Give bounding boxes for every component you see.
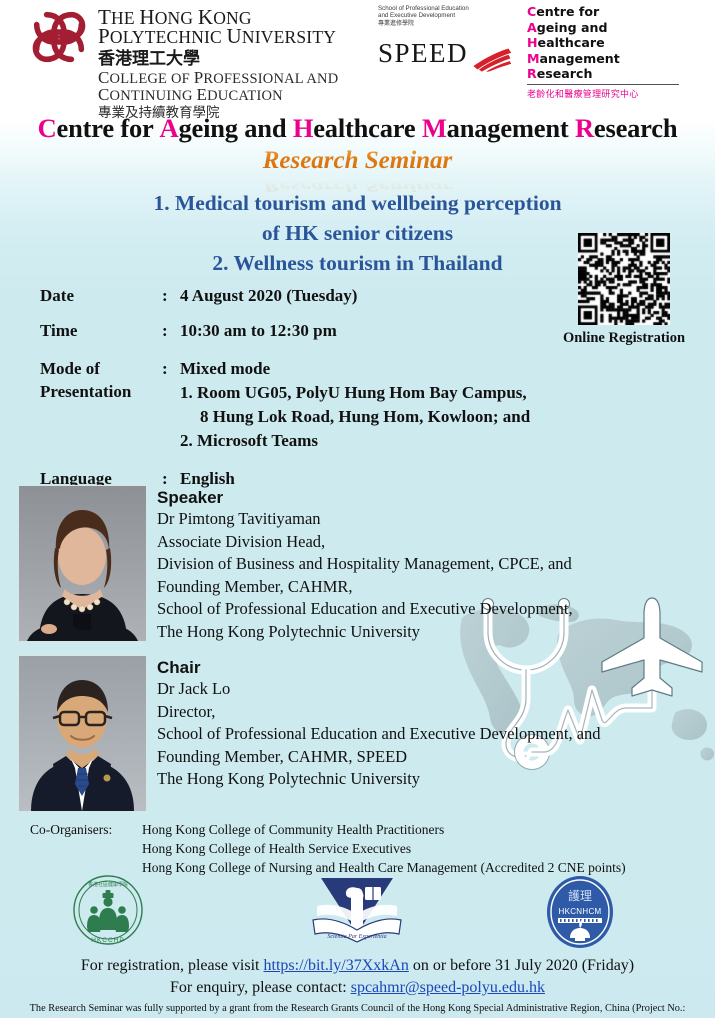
enquiry-email-link[interactable]: spcahmr@speed-polyu.edu.hk [351,979,545,996]
cahmr-divider [527,84,679,85]
qr-code-icon[interactable] [578,233,670,325]
cahmr-line-2: Ageing and [527,20,687,36]
detail-row-time: Time : 10:30 am to 12:30 pm [40,318,580,344]
date-colon: : [162,283,180,309]
chair-affiliation: The Hong Kong Polytechnic University [157,768,715,791]
svg-text:Scientia Par Experientia: Scientia Par Experientia [327,934,386,940]
svg-text:HKCNHCM: HKCNHCM [559,907,602,916]
chair-text: Chair Dr Jack Lo Director, School of Pro… [157,657,715,791]
detail-row-mode: Mode of Presentation : Mixed mode 1. Roo… [40,357,580,453]
hkchse-logo: Scientia Par Experientia [303,872,411,955]
polyu-name-chinese: 香港理工大學 [98,48,336,70]
speaker-affiliation: The Hong Kong Polytechnic University [157,621,715,644]
speaker-title-4: School of Professional Education and Exe… [157,598,715,621]
polyu-name-line2: POLYTECHNIC UNIVERSITY [98,28,336,47]
cahmr-line-3: Healthcare [527,35,687,51]
co-organiser-logos: 香港社區健康學院 HKCCHP Scientia Par Experientia [0,874,715,952]
speed-logo-block: School of Professional Education and Exe… [378,5,513,72]
hkcnhcm-logo: 護理 HKCNHCM [544,874,616,955]
event-details: Date : 4 August 2020 (Tuesday) Time : 10… [40,283,580,492]
svg-text:HKCCHP: HKCCHP [91,937,124,944]
date-label: Date [40,283,162,309]
registration-suffix: on or before 31 July 2020 (Friday) [409,957,634,974]
cahmr-line-1: Centre for [527,4,687,20]
cahmr-logo-block: Centre for Ageing and Healthcare Managem… [527,4,687,100]
seminar-title: Research Seminar [0,146,715,175]
cahmr-line-4: Management [527,51,687,67]
chair-name: Dr Jack Lo [157,678,715,701]
time-value: 10:30 am to 12:30 pm [180,318,337,344]
grant-note: The Research Seminar was fully supported… [0,1002,715,1018]
enquiry-prefix: For enquiry, please contact: [170,979,351,996]
registration-link[interactable]: https://bit.ly/37XxkAn [264,957,409,974]
chair-block: Chair Dr Jack Lo Director, School of Pro… [18,655,147,812]
speaker-block: Speaker Dr Pimtong Tavitiyaman Associate… [18,485,147,642]
chair-role-label: Chair [157,657,715,678]
speed-subtitle-line2: and Executive Development [378,12,513,19]
mode-item-2: 2. Microsoft Teams [180,429,530,453]
speed-subtitle-line1: School of Professional Education [378,5,513,12]
topic-line-1: 1. Medical tourism and wellbeing percept… [0,188,715,218]
seminar-poster: TThe Hong KongHE HONG KONG POLYTECHNIC U… [0,0,715,1018]
registration-line: For registration, please visit https://b… [0,955,715,977]
cpce-line1: COLLEGE OF PROFESSIONAL AND [98,70,338,87]
time-colon: : [162,318,180,344]
mode-colon: : [162,357,180,453]
co-organisers: Co-Organisers: Hong Kong College of Comm… [30,820,626,877]
hkcchp-logo: 香港社區健康學院 HKCCHP [72,874,144,951]
chair-title-2: School of Professional Education and Exe… [157,723,715,746]
svg-text:護理: 護理 [568,888,592,903]
hkcchp-logo-icon: 香港社區健康學院 HKCCHP [72,874,144,946]
speaker-title-2: Division of Business and Hospitality Man… [157,553,715,576]
speaker-role-label: Speaker [157,487,715,508]
chair-portrait-photo [18,655,147,812]
poster-header: TThe Hong KongHE HONG KONG POLYTECHNIC U… [0,0,715,115]
polyu-name-line1: TThe Hong KongHE HONG KONG [98,9,336,28]
svg-text:香港社區健康學院: 香港社區健康學院 [88,881,128,888]
mode-item-1b: 8 Hung Lok Road, Hung Hom, Kowloon; and [180,405,530,429]
poster-footer: For registration, please visit https://b… [0,955,715,1018]
polyu-logo-block: TThe Hong KongHE HONG KONG POLYTECHNIC U… [28,6,336,70]
hkcnhcm-logo-icon: 護理 HKCNHCM [544,874,616,950]
speed-swoosh-icon [472,46,514,72]
speaker-title-3: Founding Member, CAHMR, [157,576,715,599]
cahmr-line-5: Research [527,66,687,82]
cpce-line2: CONTINUING EDUCATION [98,87,338,104]
online-registration-qr[interactable]: Online Registration [578,233,670,347]
enquiry-line: For enquiry, please contact: spcahmr@spe… [0,977,715,999]
mode-item-1: 1. Room UG05, PolyU Hung Hom Bay Campus, [180,381,530,405]
speaker-title-1: Associate Division Head, [157,531,715,554]
mode-value: Mixed mode [180,357,530,381]
centre-title: Centre for Ageing and Healthcare Managem… [0,113,715,143]
time-label: Time [40,318,162,344]
mode-label-line1: Mode of [40,357,162,380]
co-organisers-label: Co-Organisers: [30,820,142,877]
hkchse-logo-icon: Scientia Par Experientia [303,872,411,950]
cahmr-chinese: 老齡化和醫療管理研究中心 [527,87,687,100]
co-organiser-item: Hong Kong College of Community Health Pr… [142,820,626,839]
detail-row-date: Date : 4 August 2020 (Tuesday) [40,283,580,309]
mode-label-line2: Presentation [40,380,162,403]
registration-prefix: For registration, please visit [81,957,264,974]
speaker-text: Speaker Dr Pimtong Tavitiyaman Associate… [157,487,715,643]
chair-title-1: Director, [157,701,715,724]
co-organiser-item: Hong Kong College of Health Service Exec… [142,839,626,858]
chair-title-3: Founding Member, CAHMR, SPEED [157,746,715,769]
speaker-name: Dr Pimtong Tavitiyaman [157,508,715,531]
speaker-portrait-photo [18,485,147,642]
speed-subtitle-chinese: 專業進修學院 [378,20,513,28]
polyu-knot-logo-icon [28,6,90,68]
date-value: 4 August 2020 (Tuesday) [180,283,357,309]
